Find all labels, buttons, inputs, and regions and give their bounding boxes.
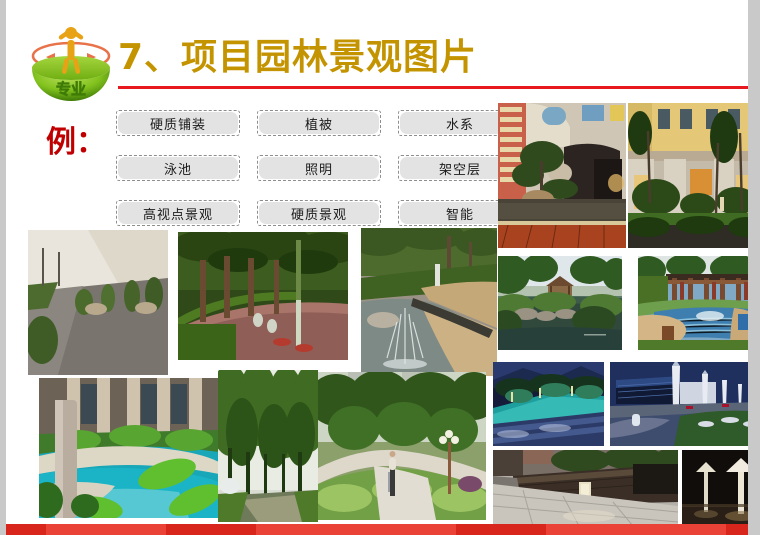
professional-badge-logo: 专业 — [22, 18, 120, 106]
tag-chip-high-viewpoint[interactable]: 高视点景观 — [116, 200, 240, 226]
photo-water-fountain — [361, 228, 497, 376]
tag-label: 硬质铺装 — [118, 112, 238, 134]
tag-chip-vegetation[interactable]: 植被 — [257, 110, 381, 136]
photo-garden-path — [318, 372, 486, 520]
photo-night-plaza — [610, 362, 760, 446]
photo-night-walkway — [493, 362, 604, 446]
photo-swimming-pool — [39, 378, 219, 518]
tag-chip-swimming-pool[interactable]: 泳池 — [116, 155, 240, 181]
tag-chip-hard-paving[interactable]: 硬质铺装 — [116, 110, 240, 136]
photo-lake-pavilion — [498, 256, 622, 350]
logo-caption: 专业 — [56, 80, 86, 98]
tag-label: 高视点景观 — [118, 202, 238, 224]
tag-label: 照明 — [259, 157, 379, 179]
tag-chip-hard-landscape[interactable]: 硬质景观 — [257, 200, 381, 226]
photo-paving-path — [28, 230, 168, 375]
slide-canvas: 专业 7、项目园林景观图片 例： 硬质铺装 植被 水系 泳池 照明 架空层 高视… — [0, 0, 760, 535]
photo-night-wall-light — [493, 450, 678, 526]
photo-bollard-light — [682, 450, 760, 526]
page-title: 7、项目园林景观图片 — [118, 38, 477, 78]
example-label: 例： — [46, 126, 106, 160]
title-underline-rule — [118, 86, 752, 89]
bottom-accent-bar — [6, 524, 760, 535]
photo-villa-facade — [628, 103, 756, 248]
photo-tree-avenue — [218, 370, 318, 522]
photo-palm-walkway — [178, 232, 348, 360]
category-tag-grid: 硬质铺装 植被 水系 泳池 照明 架空层 高视点景观 硬质景观 智能 — [116, 110, 522, 226]
logo-svg: 专业 — [22, 18, 120, 106]
tag-label: 植被 — [259, 112, 379, 134]
tag-label: 泳池 — [118, 157, 238, 179]
photo-pool-pergola — [638, 256, 760, 350]
photo-building-entrance — [498, 103, 626, 248]
tag-label: 硬质景观 — [259, 202, 379, 224]
tag-chip-lighting[interactable]: 照明 — [257, 155, 381, 181]
